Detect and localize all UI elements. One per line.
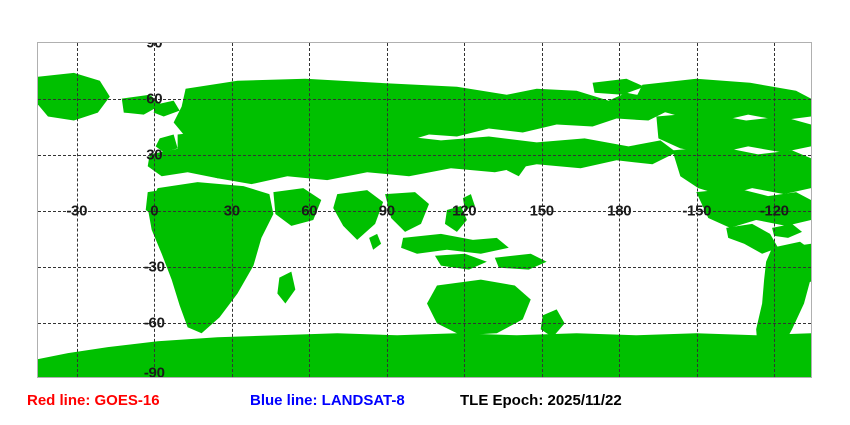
legend-tle-epoch: TLE Epoch: 2025/11/22 — [460, 392, 622, 409]
legend: Red line: GOES-16 Blue line: LANDSAT-8 T… — [0, 392, 850, 425]
legend-landsat8: Blue line: LANDSAT-8 — [250, 392, 405, 409]
satellite-track-layer — [38, 43, 811, 377]
world-map: 906030-30-60-90-300306090120150180-150-1… — [37, 42, 812, 378]
legend-goes16: Red line: GOES-16 — [27, 392, 160, 409]
